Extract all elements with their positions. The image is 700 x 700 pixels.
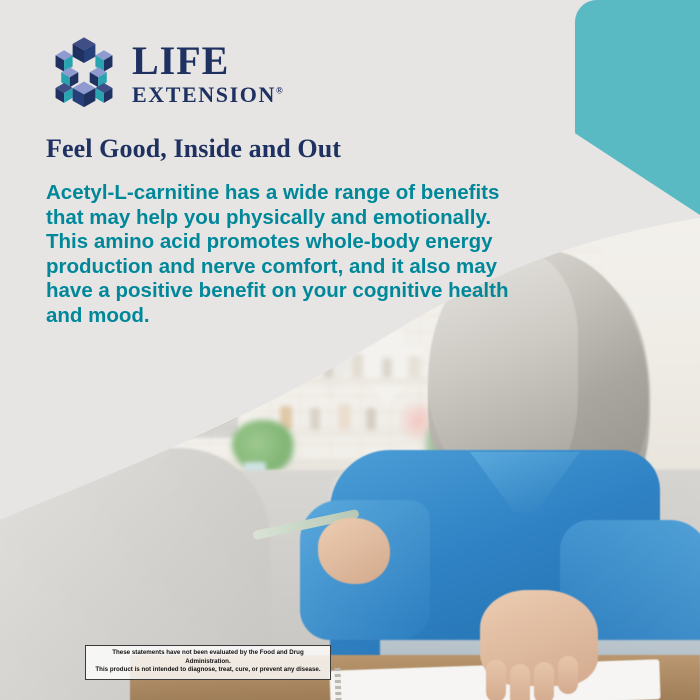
disclaimer-line-1: These statements have not been evaluated… [90,649,326,666]
brand-logo[interactable]: LIFE EXTENSION® [48,36,283,110]
shelf-jar [296,356,308,378]
page-title: Feel Good, Inside and Out [46,134,341,164]
logo-life-text: LIFE [132,41,283,81]
logo-extension-text: EXTENSION® [132,84,283,106]
disclaimer-line-2: This product is not intended to diagnose… [90,666,326,675]
teal-corner-shape [575,0,700,215]
body-copy: Acetyl-L-carnitine has a wide range of b… [46,181,516,329]
hexagon-cube-logo-icon [48,36,120,110]
advertisement-banner: LIFE EXTENSION® Feel Good, Inside and Ou… [0,0,700,700]
registered-trademark-icon: ® [276,85,283,95]
logo-wordmark: LIFE EXTENSION® [132,41,283,106]
shelf-jar [272,358,282,378]
fda-disclaimer: These statements have not been evaluated… [85,645,331,680]
